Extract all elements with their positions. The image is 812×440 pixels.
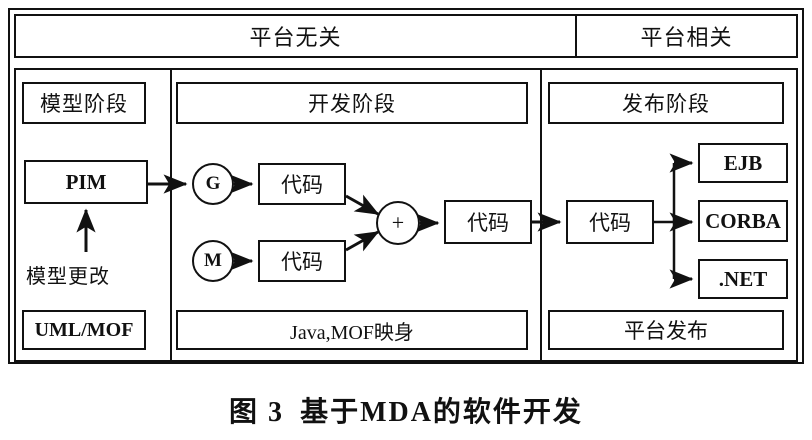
stage-title-release: 发布阶段 bbox=[548, 82, 784, 124]
tech-box-uml-mof: UML/MOF bbox=[22, 310, 146, 350]
node-mapper-circle: M bbox=[192, 240, 234, 282]
figure-caption-title: 基于MDA的软件开发 bbox=[300, 397, 583, 428]
node-target-net: .NET bbox=[698, 259, 788, 299]
figure-caption: 图 3基于MDA的软件开发 bbox=[0, 390, 812, 430]
stage-divider-model-dev bbox=[170, 70, 172, 364]
tech-box-platform-release: 平台发布 bbox=[548, 310, 784, 350]
node-generator-circle: G bbox=[192, 163, 234, 205]
stage-title-development: 开发阶段 bbox=[176, 82, 528, 124]
node-target-corba: CORBA bbox=[698, 200, 788, 242]
stage-divider-dev-release bbox=[540, 70, 542, 364]
platform-bar: 平台无关 平台相关 bbox=[14, 14, 798, 58]
node-target-ejb: EJB bbox=[698, 143, 788, 183]
node-code-merged: 代码 bbox=[444, 200, 532, 244]
platform-dependent-cell: 平台相关 bbox=[577, 16, 796, 56]
figure-caption-number: 图 3 bbox=[229, 397, 284, 428]
label-model-change: 模型更改 bbox=[26, 260, 110, 289]
tech-box-java-mof: Java,MOF映身 bbox=[176, 310, 528, 350]
stage-title-model: 模型阶段 bbox=[22, 82, 146, 124]
node-code-from-mapper: 代码 bbox=[258, 240, 346, 282]
node-code-from-generator: 代码 bbox=[258, 163, 346, 205]
node-pim: PIM bbox=[24, 160, 148, 204]
node-merge-circle: + bbox=[376, 201, 420, 245]
node-code-release: 代码 bbox=[566, 200, 654, 244]
mda-figure: 平台无关 平台相关 模型阶段 开发阶段 发布阶段 bbox=[0, 0, 812, 440]
platform-independent-cell: 平台无关 bbox=[16, 16, 577, 56]
